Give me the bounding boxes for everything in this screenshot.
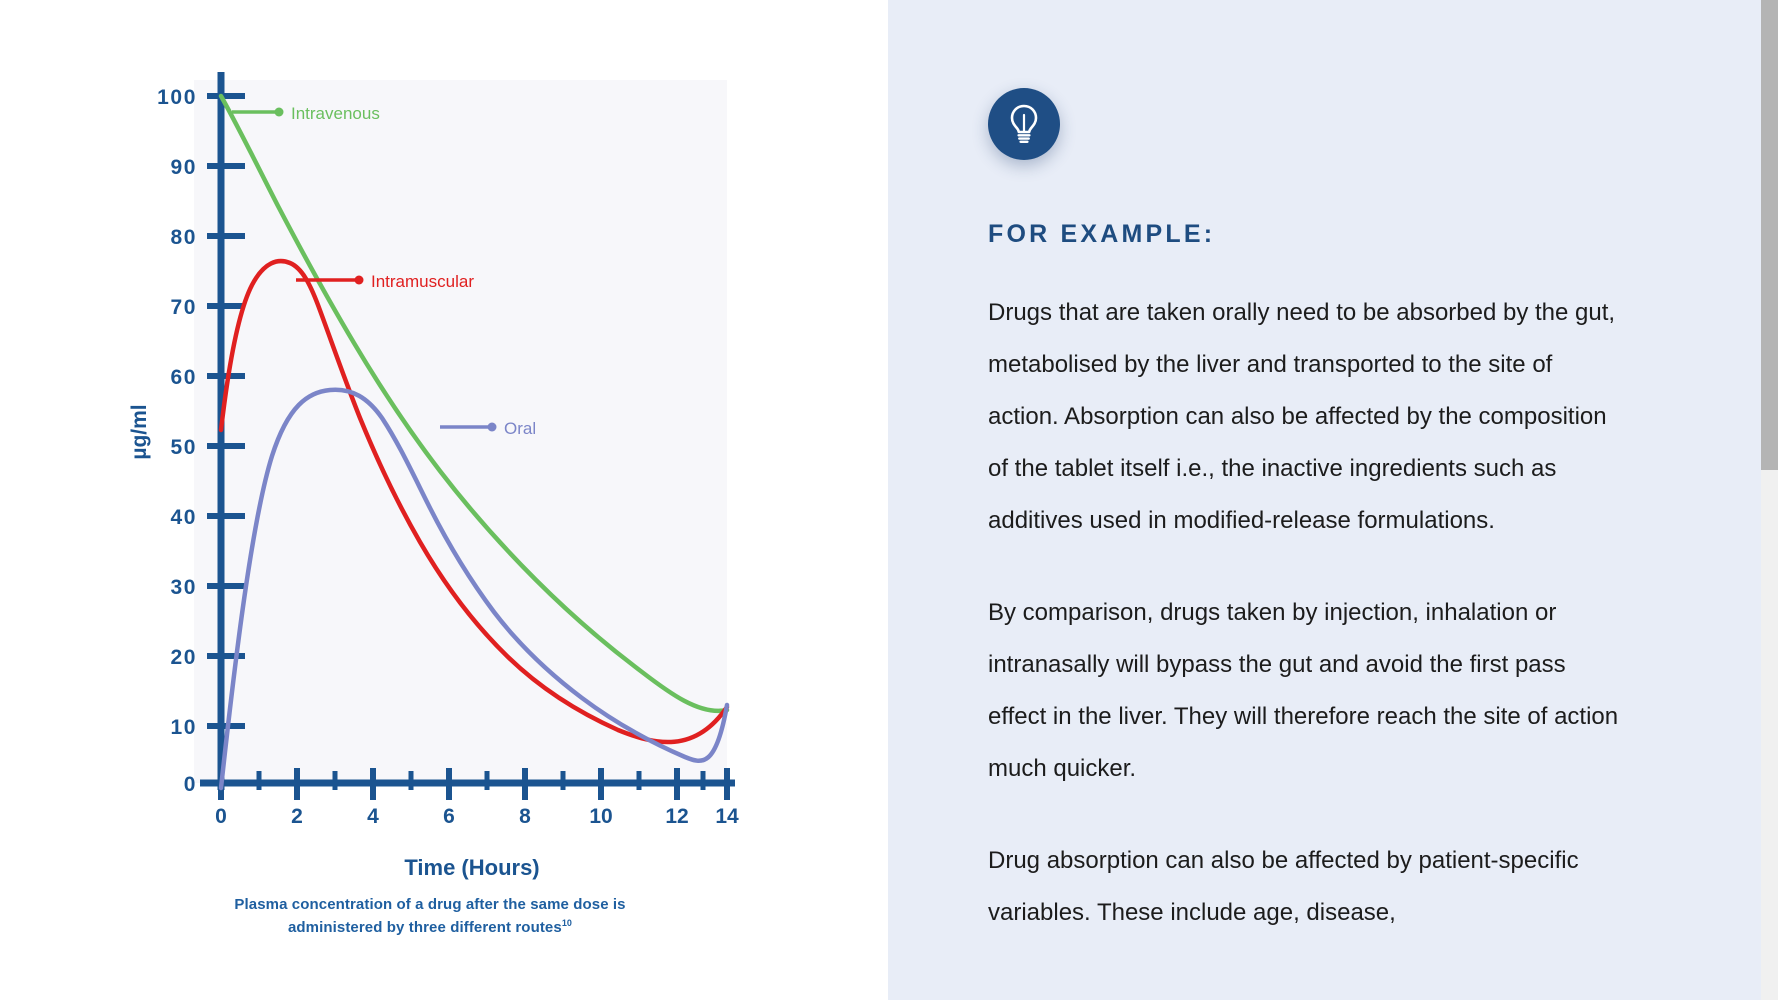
x-tick-label: 8 (519, 805, 531, 828)
x-tick-label: 6 (443, 805, 455, 828)
x-axis-title: Time (Hours) (404, 855, 539, 880)
y-tick-label: 30 (170, 576, 197, 599)
caption-line-2: administered by three different routes (288, 919, 562, 936)
lightbulb-icon (1007, 103, 1041, 145)
x-tick-label: 2 (291, 805, 303, 828)
y-tick-label: 50 (170, 436, 197, 459)
x-tick-label: 10 (589, 805, 612, 828)
figure-caption: Plasma concentration of a drug after the… (150, 894, 710, 939)
x-tick-label: 12 (665, 805, 688, 828)
y-tick-label: 60 (170, 366, 197, 389)
x-tick-labels: 0 2 4 6 8 10 12 14 (215, 805, 739, 828)
x-tick-label: 0 (215, 805, 227, 828)
figure-pane: 100 90 80 70 60 50 40 30 20 10 0 µg/ml (0, 0, 888, 1000)
chart-svg: 100 90 80 70 60 50 40 30 20 10 0 µg/ml (0, 0, 888, 1000)
vertical-scrollbar-thumb[interactable] (1761, 0, 1778, 470)
callout-heading: FOR EXAMPLE: (988, 220, 1588, 249)
y-tick-label: 0 (184, 773, 197, 796)
y-axis-title: µg/ml (128, 404, 151, 459)
x-tick-label: 14 (715, 805, 739, 828)
x-tick-label: 4 (367, 805, 379, 828)
y-tick-label: 90 (170, 156, 197, 179)
for-example-callout-panel: FOR EXAMPLE: Drugs that are taken orally… (888, 0, 1778, 1000)
y-tick-label: 40 (170, 506, 197, 529)
series-label-intravenous: Intravenous (291, 104, 380, 123)
leader-dot-intravenous (275, 108, 284, 117)
vertical-scrollbar-track[interactable] (1761, 0, 1778, 1000)
callout-paragraph: Drugs that are taken orally need to be a… (988, 287, 1628, 547)
callout-paragraph: By comparison, drugs taken by injection,… (988, 587, 1628, 795)
caption-line-1: Plasma concentration of a drug after the… (234, 896, 625, 913)
y-tick-label: 10 (170, 716, 197, 739)
plasma-concentration-chart: 100 90 80 70 60 50 40 30 20 10 0 µg/ml (0, 0, 888, 1000)
y-tick-label: 70 (170, 296, 197, 319)
callout-paragraph: Drug absorption can also be affected by … (988, 835, 1628, 939)
leader-dot-intramuscular (355, 276, 364, 285)
series-label-oral: Oral (504, 419, 536, 438)
caption-reference-number: 10 (562, 918, 572, 928)
y-tick-label: 100 (157, 86, 197, 109)
y-tick-labels: 100 90 80 70 60 50 40 30 20 10 0 (157, 86, 197, 796)
lightbulb-icon-badge (988, 88, 1060, 160)
callout-content: FOR EXAMPLE: Drugs that are taken orally… (888, 0, 1588, 939)
page-root: 100 90 80 70 60 50 40 30 20 10 0 µg/ml (0, 0, 1778, 1000)
y-tick-label: 80 (170, 226, 197, 249)
leader-dot-oral (488, 423, 497, 432)
series-label-intramuscular: Intramuscular (371, 272, 474, 291)
y-tick-label: 20 (170, 646, 197, 669)
